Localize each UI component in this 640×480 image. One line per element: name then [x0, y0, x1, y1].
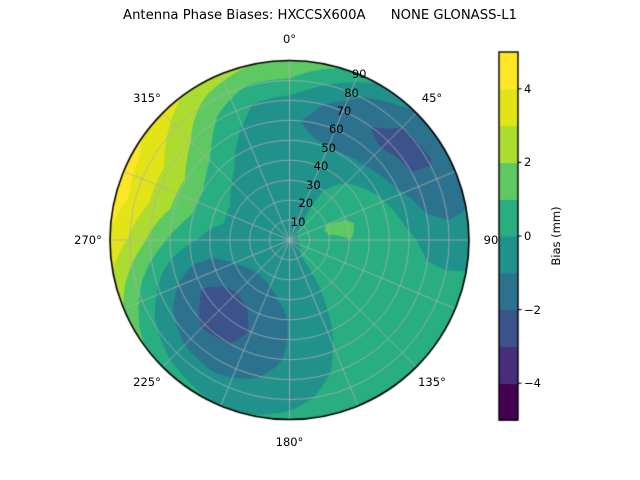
- r-tick-40: 40: [314, 159, 329, 173]
- colorbar-axis-label: Bias (mm): [549, 206, 563, 265]
- r-tick-60: 60: [329, 122, 344, 136]
- theta-tick-180: 180°: [276, 435, 304, 449]
- r-tick-20: 20: [298, 196, 313, 210]
- r-tick-90: 90: [352, 67, 367, 81]
- r-tick-70: 70: [337, 104, 352, 118]
- colorbar-tick--4: −4: [524, 376, 541, 390]
- colorbar-tick-2: 2: [524, 155, 531, 169]
- theta-tick-90: 90: [484, 233, 499, 247]
- theta-tick-45: 45°: [422, 91, 442, 105]
- colorbar-tick-4: 4: [524, 82, 531, 96]
- theta-tick-315: 315°: [133, 91, 161, 105]
- colorbar-tick--2: −2: [524, 303, 541, 317]
- r-tick-10: 10: [291, 215, 306, 229]
- theta-tick-0: 0°: [283, 32, 296, 46]
- r-tick-30: 30: [306, 178, 321, 192]
- figure-container: Antenna Phase Biases: HXCCSX600A NONE GL…: [0, 0, 640, 480]
- r-tick-80: 80: [344, 86, 359, 100]
- theta-tick-270: 270°: [74, 233, 102, 247]
- r-tick-50: 50: [321, 141, 336, 155]
- theta-tick-225: 225°: [133, 375, 161, 389]
- theta-tick-135: 135°: [418, 375, 446, 389]
- colorbar-tick-0: 0: [524, 229, 531, 243]
